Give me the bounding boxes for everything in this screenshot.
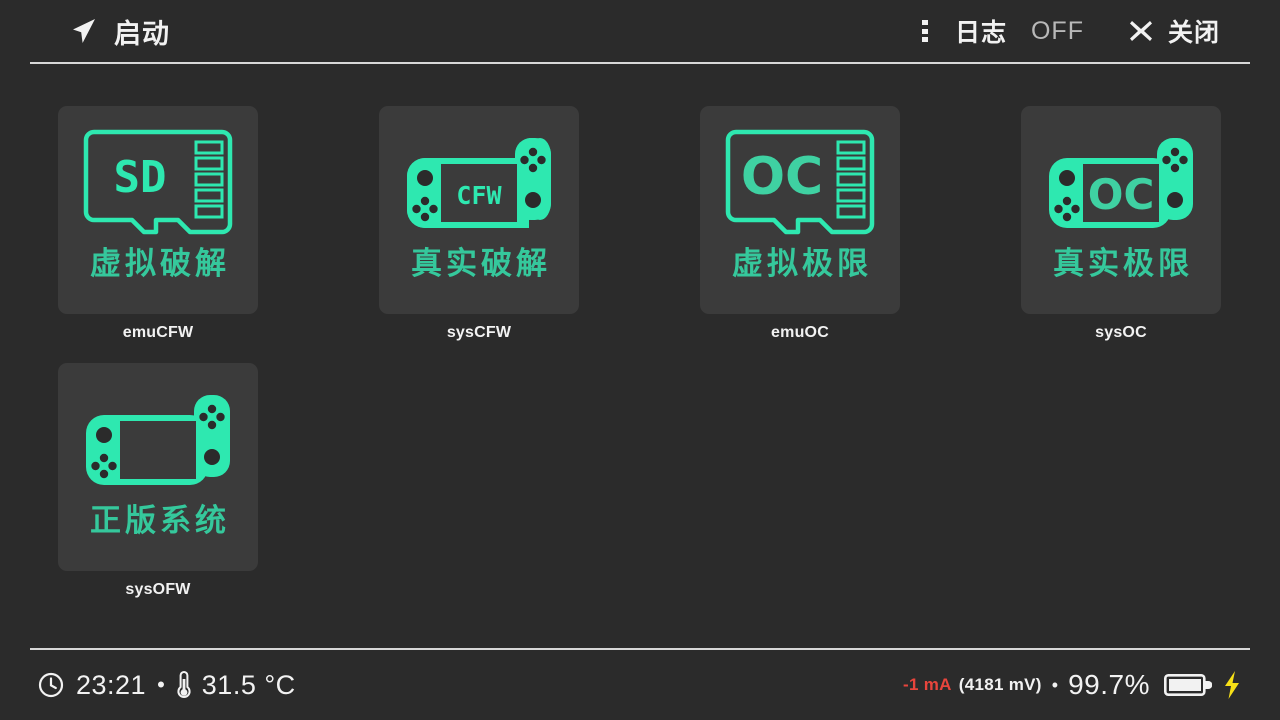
header-bar: 启动 日志 OFF 关闭 [30,0,1250,64]
sdcard-icon: OC [715,124,885,244]
close-x-icon [1128,18,1154,44]
launcher-screen: 启动 日志 OFF 关闭 [0,0,1280,720]
close-label: 关闭 [1168,13,1220,49]
sdcard-icon: SD [73,124,243,244]
navigation-arrow-icon [68,16,98,46]
battery-icon [1164,672,1212,698]
tile-syscfw[interactable]: CFW 真实破解 sysCFW [379,106,579,342]
status-bar: 23:21 • 31.5 °C -1 mA (4181 mV) • 99.7% [30,648,1250,720]
log-label: 日志 [955,13,1007,49]
tile-label: 虚拟破解 [86,248,230,279]
header-actions: 日志 OFF 关闭 [915,13,1220,49]
tile-card[interactable]: OC 真实极限 [1021,106,1221,314]
thermometer-icon [176,670,192,700]
tile-caption: sysCFW [447,324,511,342]
battery-percent: 99.7% [1068,669,1150,701]
tile-card[interactable]: CFW 真实破解 [379,106,579,314]
switch-console-icon-text: OC [1088,170,1155,219]
tile-card[interactable]: SD 虚拟破解 [58,106,258,314]
tile-caption: sysOC [1095,324,1147,342]
switch-console-icon: CFW [394,124,564,244]
tile-sysofw[interactable]: 正版系统 sysOFW [58,363,258,599]
page-title: 启动 [114,12,170,51]
tile-caption: emuOC [771,324,829,342]
tile-emucfw[interactable]: SD 虚拟破解 emuCFW [58,106,258,342]
tile-grid-area: SD 虚拟破解 emuCFW [0,64,1280,648]
log-toggle-button[interactable]: 日志 OFF [915,13,1084,49]
temperature-value: 31.5 °C [202,670,296,701]
switch-console-icon-text: CFW [456,181,502,210]
sdcard-icon-text: OC [741,147,823,207]
tile-label: 真实极限 [1049,248,1193,279]
status-separator: • [157,674,165,696]
close-button[interactable]: 关闭 [1128,13,1220,49]
tile-card[interactable]: OC 虚拟极限 [700,106,900,314]
tile-sysoc[interactable]: OC 真实极限 sysOC [1021,106,1221,342]
tile-label: 真实破解 [407,248,551,279]
tile-label: 虚拟极限 [728,248,872,279]
battery-current: -1 mA [903,675,952,695]
header-title-group: 启动 [68,12,170,51]
clock-time: 23:21 [76,670,146,701]
sdcard-icon-text: SD [114,152,167,203]
status-right: -1 mA (4181 mV) • 99.7% [903,669,1242,701]
tile-emuoc[interactable]: OC 虚拟极限 emuOC [700,106,900,342]
tile-grid: SD 虚拟破解 emuCFW [0,106,1280,599]
battery-voltage: (4181 mV) [959,675,1042,695]
tile-caption: sysOFW [125,581,190,599]
status-separator-2: • [1052,675,1058,696]
status-left: 23:21 • 31.5 °C [38,670,296,701]
switch-console-icon: OC [1036,124,1206,244]
log-state: OFF [1031,17,1084,46]
list-icon [915,20,941,42]
clock-icon [38,672,64,698]
switch-console-icon [73,381,243,501]
tile-caption: emuCFW [123,324,194,342]
lightning-bolt-icon [1222,670,1242,700]
tile-card[interactable]: 正版系统 [58,363,258,571]
tile-label: 正版系统 [86,505,230,536]
